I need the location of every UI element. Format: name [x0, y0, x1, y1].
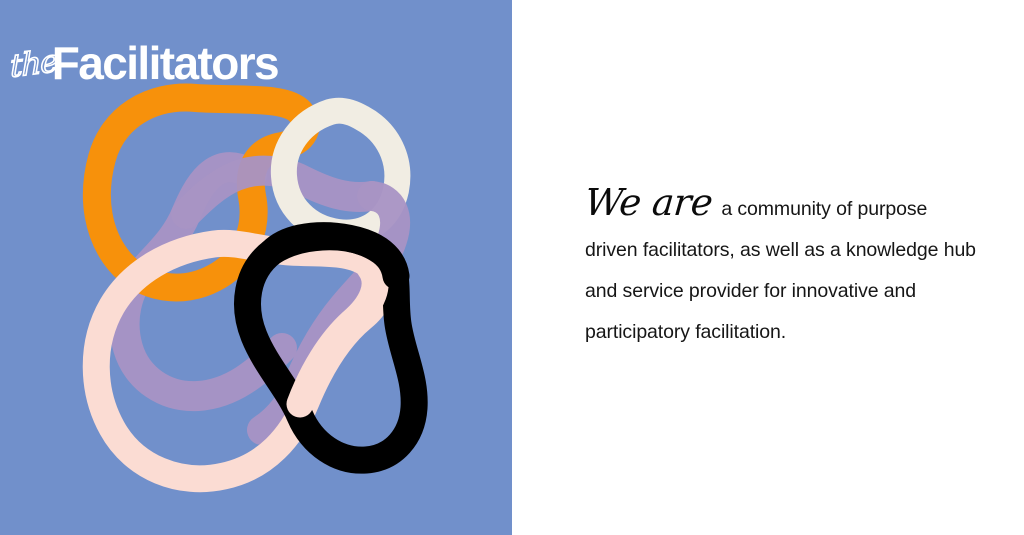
left-blue-panel: the Facilitators	[0, 0, 512, 535]
right-white-panel: We area community of purpose driven faci…	[512, 0, 1024, 535]
logo: the Facilitators	[10, 28, 278, 86]
logo-main-word: Facilitators	[52, 40, 278, 86]
tagline-block: We area community of purpose driven faci…	[585, 182, 985, 353]
logo-script-word: the	[10, 46, 58, 83]
tagline-script-lead: We are	[583, 182, 714, 223]
slide-root: the Facilitators We area community of pu…	[0, 0, 1024, 535]
tagline-paragraph: We area community of purpose driven faci…	[585, 182, 985, 353]
